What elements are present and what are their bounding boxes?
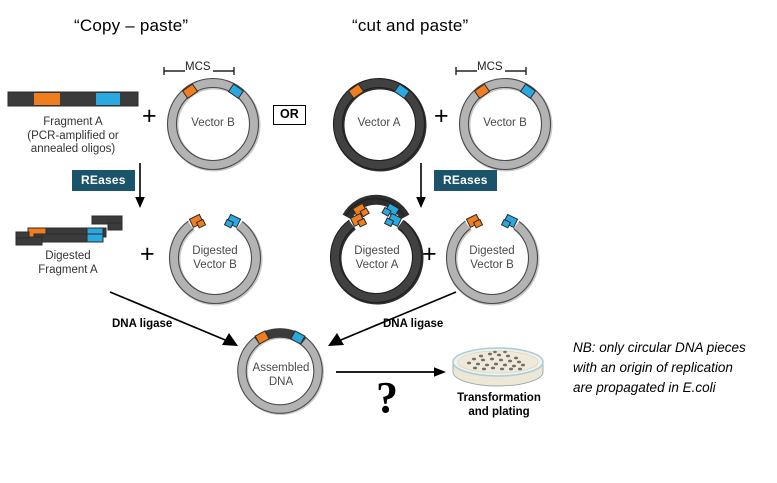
digested-vector-b-right-label: Digested Vector B bbox=[447, 245, 537, 272]
figure-canvas: “Copy – paste” “cut and paste” Fragment … bbox=[0, 0, 777, 483]
reases-box-right: REases bbox=[434, 170, 497, 191]
vector-b-right-label: Vector B bbox=[460, 117, 550, 131]
digested-fragment-a-dna bbox=[8, 208, 143, 253]
plus-sign-top-left: + bbox=[142, 104, 157, 129]
fragment-a-label: Fragment A (PCR-amplified or annealed ol… bbox=[3, 116, 143, 157]
petri-dish-icon bbox=[449, 344, 547, 392]
vector-b-left-label: Vector B bbox=[168, 117, 258, 131]
plus-sign-mid-right: + bbox=[422, 242, 437, 267]
question-mark: ? bbox=[376, 376, 398, 420]
reases-box-left: REases bbox=[72, 170, 135, 191]
fragment-a-dna-bar bbox=[8, 90, 138, 110]
digested-fragment-a-label: Digested Fragment A bbox=[8, 250, 128, 277]
digested-vector-a-label: Digested Vector A bbox=[331, 245, 423, 272]
ligase-label-right: DNA ligase bbox=[383, 318, 443, 330]
mcs-label-right: MCS bbox=[477, 61, 503, 73]
assembled-dna-label: Assembled DNA bbox=[237, 362, 325, 389]
transformation-label: Transformation and plating bbox=[441, 392, 557, 419]
nb-note: NB: only circular DNA pieces with an ori… bbox=[573, 338, 773, 398]
ligase-label-left: DNA ligase bbox=[112, 318, 172, 330]
digested-vector-b-left-label: Digested Vector B bbox=[170, 245, 260, 272]
plus-sign-top-right: + bbox=[434, 104, 449, 129]
title-copy-paste: “Copy – paste” bbox=[74, 16, 188, 36]
mcs-label-left: MCS bbox=[185, 61, 211, 73]
digestion-arrow-left bbox=[133, 163, 147, 209]
vector-a-label: Vector A bbox=[334, 117, 424, 131]
or-box: OR bbox=[273, 105, 306, 125]
title-cut-paste: “cut and paste” bbox=[352, 16, 468, 36]
plus-sign-mid-left: + bbox=[140, 242, 155, 267]
